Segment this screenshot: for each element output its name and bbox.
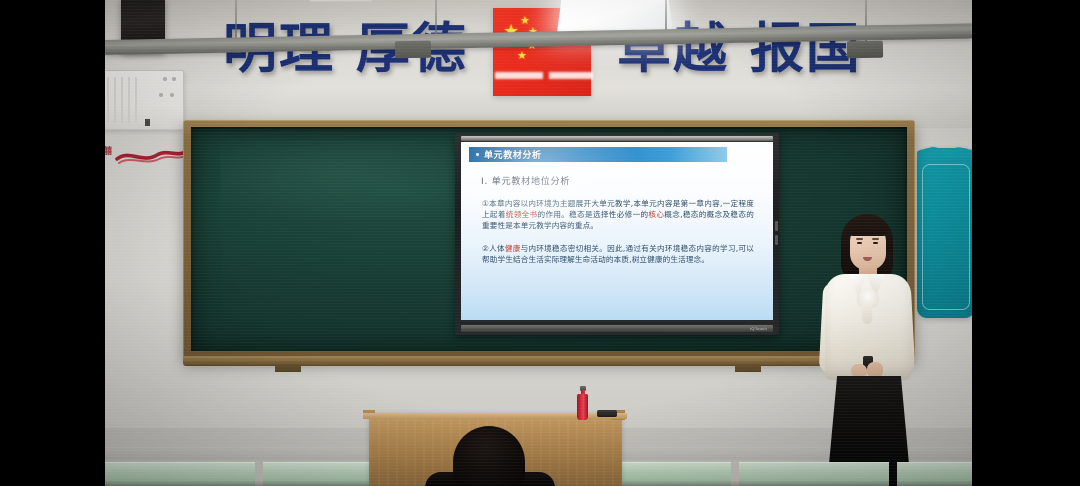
slide-p2-highlight-a: 健康 [505, 244, 521, 253]
slide-p1-highlight-b: 核心 [648, 210, 664, 219]
slide-p1-part-b: 的作用。稳态是选择性必修一的 [537, 210, 648, 219]
panel-knob-4[interactable] [170, 93, 174, 97]
ceiling-light-panel [557, 0, 673, 33]
teacher-eyebrow-right [872, 238, 879, 240]
ceiling-light-panel-secondary [310, 0, 373, 1]
light-rail-wire-1 [235, 0, 237, 42]
vent-grille-icon [107, 77, 137, 123]
flag-glare-right [549, 72, 593, 79]
iwb-side-button-1[interactable] [775, 221, 778, 231]
panel-knob-1[interactable] [163, 77, 167, 81]
light-rail-fitting-2 [847, 41, 883, 59]
slide-paragraph-2: ②人体健康与内环境稳态密切相关。因此,通过有关内环境稳态内容的学习,可以帮助学生… [482, 243, 754, 265]
interactive-whiteboard[interactable]: 单元教材分析 I. 单元教材地位分析 ①本章内容以内环境为主题展开大单元教学,本… [455, 133, 779, 335]
panel-knob-2[interactable] [172, 77, 176, 81]
teacher-hand-left [851, 364, 867, 378]
red-water-bottle[interactable] [577, 386, 588, 420]
lectern-object [597, 410, 617, 417]
iwb-side-button-2[interactable] [775, 235, 778, 245]
flag-glare-left [495, 72, 543, 79]
wall-control-panel[interactable] [105, 70, 184, 130]
slide-title-bullet-icon [476, 153, 479, 156]
flag-star-4: ★ [517, 51, 527, 62]
letterbox-bar-left [0, 0, 105, 486]
panel-knob-3[interactable] [159, 93, 163, 97]
teacher-eyebrow-left [856, 238, 863, 240]
iwb-top-trim [461, 136, 773, 141]
iwb-bottom-trim: IQTouch [461, 325, 773, 332]
slide-p1-highlight-a: 统领全书 [506, 210, 538, 219]
teacher-hair-fringe [847, 218, 889, 236]
teacher-hand-right [867, 362, 883, 378]
bottle-body [577, 394, 588, 420]
slide-p2-part-a: ②人体 [482, 244, 505, 253]
iwb-brand-label: IQTouch [750, 326, 767, 331]
panel-latch[interactable] [145, 119, 150, 126]
presentation-slide[interactable]: 单元教材分析 I. 单元教材地位分析 ①本章内容以内环境为主题展开大单元教学,本… [461, 142, 773, 320]
letterbox-bar-right [972, 0, 1080, 486]
teacher-bow-tail [861, 304, 872, 325]
classroom-photo: ★ ★ ★ ★ ★ 明理 厚德 卓越 报国 [105, 0, 972, 486]
slide-title-bar: 单元教材分析 [469, 147, 727, 162]
video-frame: ★ ★ ★ ★ ★ 明理 厚德 卓越 报国 [0, 0, 1080, 486]
teal-board-crown [917, 138, 972, 158]
slide-paragraph-1: ①本章内容以内环境为主题展开大单元教学,本单元内容是第一章内容,一定程度上起着统… [482, 198, 754, 231]
red-ribbon-decal [115, 146, 187, 166]
light-rail-fitting-1 [395, 41, 431, 59]
slide-heading: I. 单元教材地位分析 [481, 174, 570, 187]
slide-title: 单元教材分析 [484, 148, 542, 161]
slide-p2-part-b: 与内环境稳态密切相关。因此,通过有关内环境稳态内容的学习,可以帮助学生结合生活实… [482, 244, 754, 264]
teacher-presenter [805, 212, 929, 486]
